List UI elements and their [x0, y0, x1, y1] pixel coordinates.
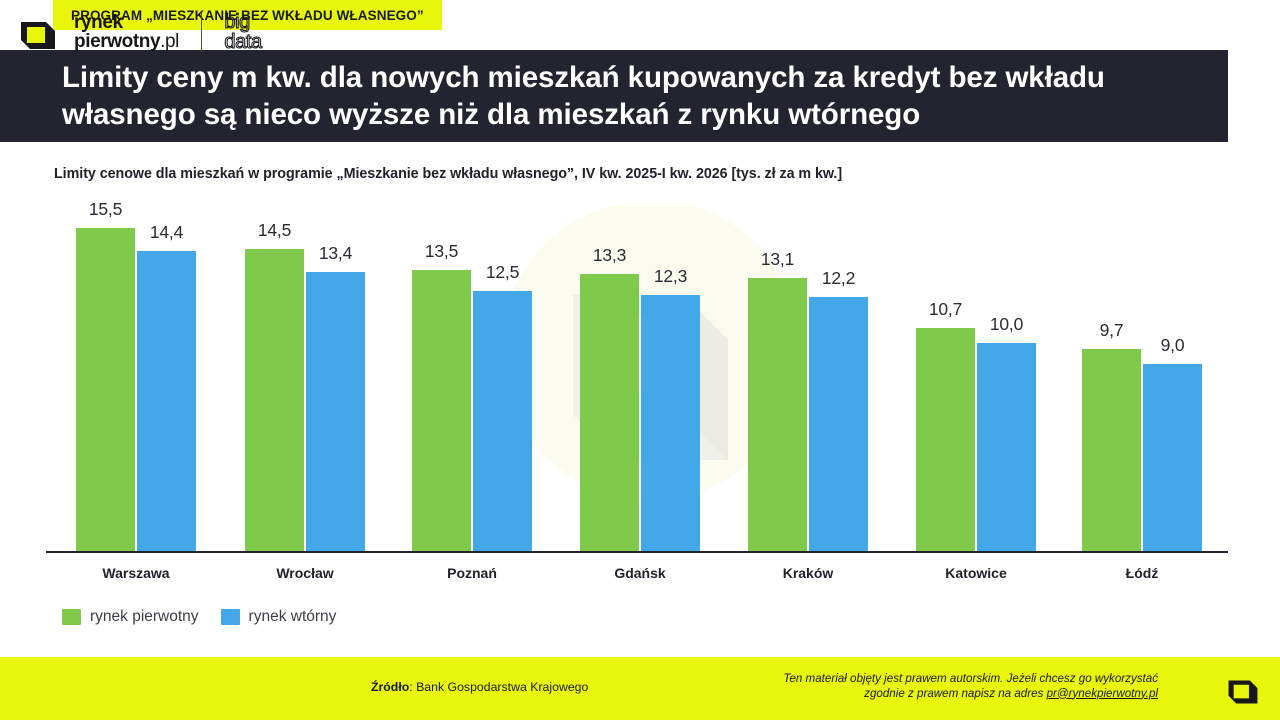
cube-badge-icon	[1226, 672, 1260, 706]
bar-krakow-secondary[interactable]: 12,2	[809, 205, 868, 551]
brand-badge[interactable]	[1213, 659, 1272, 718]
bar-warszawa-primary[interactable]: 15,5	[76, 205, 135, 551]
brand-logo[interactable]: rynek pierwotny.pl big data	[18, 12, 262, 52]
legend-label-secondary: rynek wtórny	[249, 608, 337, 626]
bar-lodz-secondary[interactable]: 9,0	[1143, 205, 1202, 551]
bar-group-gdansk: 13,3 12,3 Gdańsk	[550, 205, 730, 551]
brand-tld: .pl	[160, 31, 179, 52]
logo-divider	[201, 12, 202, 52]
bar-value-label: 9,0	[1128, 335, 1218, 356]
brand-line-1: rynek	[74, 13, 179, 32]
source-value: : Bank Gospodarstwa Krajowego	[409, 680, 588, 694]
bar-rect[interactable]	[580, 274, 639, 551]
category-label-krakow: Kraków	[718, 565, 898, 581]
brand-line-2-main: pierwotny	[74, 31, 160, 52]
bar-gdansk-primary[interactable]: 13,3	[580, 205, 639, 551]
bar-krakow-primary[interactable]: 13,1	[748, 205, 807, 551]
legend-item-primary[interactable]: rynek pierwotny	[62, 608, 199, 626]
bar-rect[interactable]	[306, 272, 365, 551]
bar-warszawa-secondary[interactable]: 14,4	[137, 205, 196, 551]
bar-group-lodz: 9,7 9,0 Łódź	[1052, 205, 1232, 551]
bar-rect[interactable]	[641, 295, 700, 551]
bar-group-katowice: 10,7 10,0 Katowice	[886, 205, 1066, 551]
bar-value-label: 12,2	[794, 268, 884, 289]
category-label-poznan: Poznań	[382, 565, 562, 581]
bar-rect[interactable]	[809, 297, 868, 551]
bigdata-line-1: big	[224, 12, 261, 32]
bar-lodz-primary[interactable]: 9,7	[1082, 205, 1141, 551]
bar-poznan-primary[interactable]: 13,5	[412, 205, 471, 551]
bar-group-warszawa: 15,5 14,4 Warszawa	[46, 205, 226, 551]
bar-group-wroclaw: 14,5 13,4 Wrocław	[215, 205, 395, 551]
category-label-wroclaw: Wrocław	[215, 565, 395, 581]
legend-swatch-secondary	[221, 609, 240, 625]
bar-rect[interactable]	[916, 328, 975, 551]
source-note: Źródło: Bank Gospodarstwa Krajowego	[371, 680, 588, 694]
bar-rect[interactable]	[748, 278, 807, 551]
bar-katowice-secondary[interactable]: 10,0	[977, 205, 1036, 551]
legend-swatch-primary	[62, 609, 81, 625]
bar-rect[interactable]	[137, 251, 196, 551]
bar-rect[interactable]	[412, 270, 471, 551]
bar-katowice-primary[interactable]: 10,7	[916, 205, 975, 551]
copyright-note: Ten materiał objęty jest prawem autorski…	[706, 672, 1158, 701]
bigdata-wordmark: big data	[224, 12, 261, 52]
brand-wordmark: rynek pierwotny.pl	[74, 13, 179, 51]
bar-gdansk-secondary[interactable]: 12,3	[641, 205, 700, 551]
bar-rect[interactable]	[1143, 364, 1202, 551]
source-label: Źródło	[371, 680, 409, 694]
legend-label-primary: rynek pierwotny	[90, 608, 199, 626]
copyright-line-1: Ten materiał objęty jest prawem autorski…	[783, 672, 1158, 685]
category-label-warszawa: Warszawa	[46, 565, 226, 581]
bar-value-label: 12,3	[626, 266, 716, 287]
contact-email-link[interactable]: pr@rynekpierwotny.pl	[1047, 687, 1158, 700]
chart-subtitle: Limity cenowe dla mieszkań w programie „…	[54, 166, 842, 182]
category-label-lodz: Łódź	[1052, 565, 1232, 581]
plot-area: 15,5 14,4 Warszawa 14,5 13,4	[46, 205, 1228, 553]
copyright-line-2: zgodnie z prawem napisz na adres	[864, 687, 1046, 700]
bar-value-label: 12,5	[458, 262, 548, 283]
category-label-gdansk: Gdańsk	[550, 565, 730, 581]
bar-value-label: 13,4	[291, 243, 381, 264]
brand-line-2: pierwotny.pl	[74, 32, 179, 51]
bar-group-poznan: 13,5 12,5 Poznań	[382, 205, 562, 551]
bar-value-label: 14,4	[122, 222, 212, 243]
bar-poznan-secondary[interactable]: 12,5	[473, 205, 532, 551]
chart: 15,5 14,4 Warszawa 14,5 13,4	[46, 205, 1228, 555]
bar-wroclaw-secondary[interactable]: 13,4	[306, 205, 365, 551]
bar-group-krakow: 13,1 12,2 Kraków	[718, 205, 898, 551]
page-title: Limity ceny m kw. dla nowych mieszkań ku…	[0, 59, 1228, 133]
chart-legend: rynek pierwotny rynek wtórny	[62, 608, 336, 626]
x-axis-line	[46, 551, 1228, 553]
bar-rect[interactable]	[76, 228, 135, 551]
headline-bar: Limity ceny m kw. dla nowych mieszkań ku…	[0, 50, 1228, 142]
bar-rect[interactable]	[473, 291, 532, 551]
bar-rect[interactable]	[1082, 349, 1141, 551]
bar-rect[interactable]	[977, 343, 1036, 551]
legend-item-secondary[interactable]: rynek wtórny	[221, 608, 337, 626]
category-label-katowice: Katowice	[886, 565, 1066, 581]
bar-value-label: 10,0	[962, 314, 1052, 335]
bigdata-line-2: data	[224, 32, 261, 52]
cube-logo-icon	[18, 12, 58, 52]
bar-rect[interactable]	[245, 249, 304, 551]
